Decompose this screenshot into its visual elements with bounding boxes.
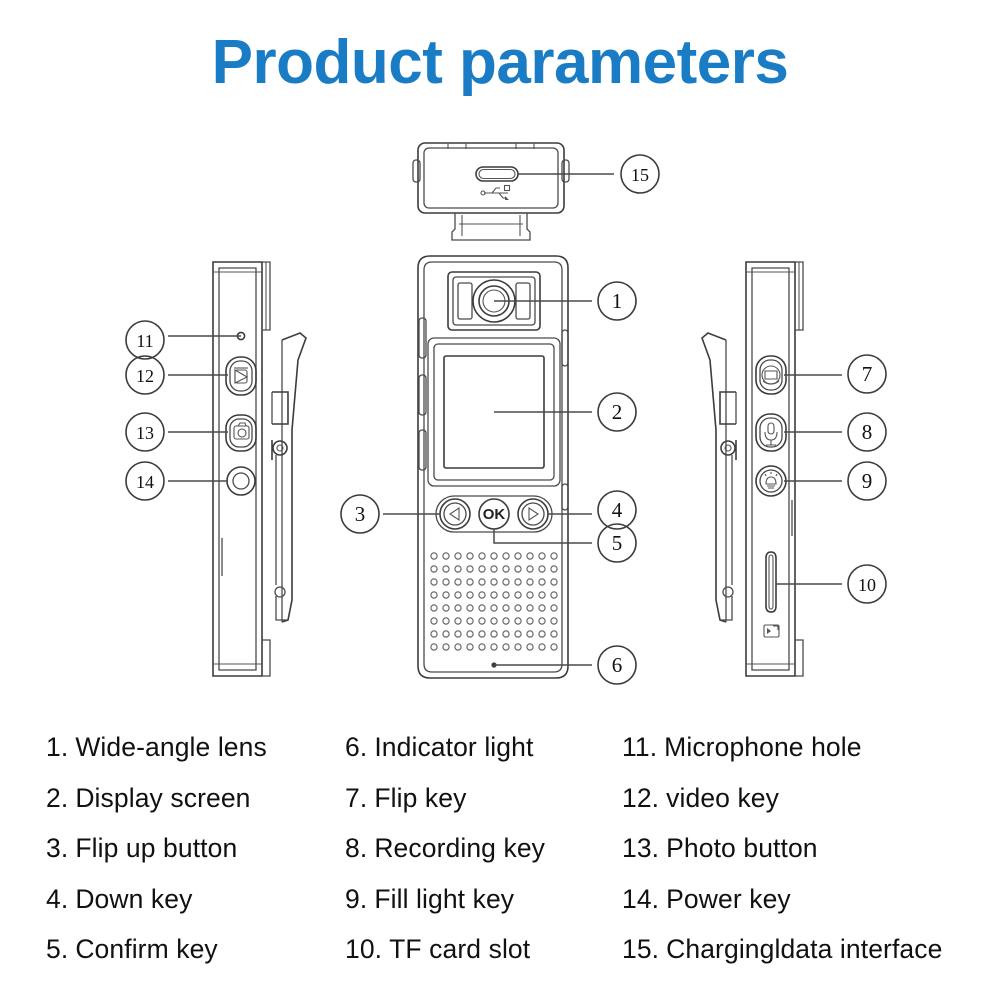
legend-column-2: 6.Indicator light 7.Flip key 8.Recording… (345, 722, 615, 975)
legend-item-15-number: 15. (622, 924, 659, 975)
legend-item-7: 7.Flip key (345, 773, 615, 824)
legend-item-15-label: Chargingldata interface (659, 924, 942, 975)
usb-symbol (481, 186, 510, 201)
photo-button[interactable] (226, 415, 256, 451)
belt-clip (702, 333, 736, 622)
legend-item-1-label: Wide-angle lens (68, 722, 267, 773)
callout-8-label: 8 (862, 420, 873, 444)
belt-clip (272, 333, 306, 622)
callout-12-label: 12 (136, 366, 154, 386)
product-diagram: .ln { fill:none; stroke:#3c3c3c; stroke-… (0, 0, 1000, 720)
legend-item-2-label: Display screen (68, 773, 250, 824)
ir-led-left (458, 283, 472, 319)
legend-item-10-label: TF card slot (382, 924, 530, 975)
legend-item-4-label: Down key (68, 874, 192, 925)
legend-item-4-number: 4. (46, 874, 68, 925)
legend-item-2: 2.Display screen (46, 773, 346, 824)
legend-item-5: 5.Confirm key (46, 924, 346, 975)
recording-key[interactable] (756, 414, 786, 451)
legend: 1.Wide-angle lens 2.Display screen 3.Fli… (0, 722, 1000, 1000)
callout-6-label: 6 (612, 653, 623, 677)
legend-item-3-label: Flip up button (68, 823, 237, 874)
flip-key[interactable] (756, 356, 786, 394)
callout-13-label: 13 (136, 423, 154, 443)
legend-item-12: 12.video key (622, 773, 992, 824)
leader-5 (494, 529, 592, 543)
right-side-view: 7 8 9 10 (702, 262, 886, 676)
legend-item-7-number: 7. (345, 773, 367, 824)
video-key[interactable] (226, 357, 256, 395)
legend-item-8-number: 8. (345, 823, 367, 874)
button-row: OK (436, 496, 552, 532)
legend-item-14: 14.Power key (622, 874, 992, 925)
front-view: OK (341, 256, 636, 684)
legend-item-13-label: Photo button (659, 823, 818, 874)
power-key[interactable] (227, 467, 255, 495)
legend-item-1-number: 1. (46, 722, 68, 773)
callout-7-label: 7 (862, 362, 873, 386)
callout-14-label: 14 (136, 472, 154, 492)
speaker-grille (431, 553, 557, 650)
legend-item-10: 10.TF card slot (345, 924, 615, 975)
legend-item-10-number: 10. (345, 924, 382, 975)
legend-item-11-number: 11. (622, 722, 657, 773)
legend-column-1: 1.Wide-angle lens 2.Display screen 3.Fli… (46, 722, 346, 975)
legend-item-9-number: 9. (345, 874, 367, 925)
product-parameters-page: Product parameters .ln { fill:none; stro… (0, 0, 1000, 1000)
legend-item-15: 15.Chargingldata interface (622, 924, 992, 975)
legend-item-6: 6.Indicator light (345, 722, 615, 773)
legend-item-3-number: 3. (46, 823, 68, 874)
legend-item-5-label: Confirm key (68, 924, 217, 975)
flip-up-button[interactable] (440, 499, 470, 529)
legend-item-12-number: 12. (622, 773, 659, 824)
legend-item-14-number: 14. (622, 874, 659, 925)
down-key[interactable] (518, 499, 548, 529)
legend-item-2-number: 2. (46, 773, 68, 824)
tf-card-slot[interactable] (766, 552, 776, 612)
callout-10-label: 10 (858, 575, 876, 595)
legend-item-9: 9.Fill light key (345, 874, 615, 925)
callout-5-label: 5 (612, 531, 623, 555)
legend-item-8-label: Recording key (367, 823, 545, 874)
ok-button[interactable]: OK (479, 499, 509, 529)
legend-item-6-label: Indicator light (367, 722, 533, 773)
callout-2-label: 2 (612, 400, 623, 424)
fill-light-key[interactable] (756, 466, 786, 496)
tf-card-symbol (764, 625, 779, 637)
legend-item-3: 3.Flip up button (46, 823, 346, 874)
legend-item-6-number: 6. (345, 722, 367, 773)
legend-item-1: 1.Wide-angle lens (46, 722, 346, 773)
legend-item-13-number: 13. (622, 823, 659, 874)
legend-item-14-label: Power key (659, 874, 791, 925)
legend-item-4: 4.Down key (46, 874, 346, 925)
callout-11-label: 11 (136, 331, 153, 351)
legend-item-11: 11.Microphone hole (622, 722, 992, 773)
callout-4-label: 4 (612, 498, 623, 522)
legend-item-5-number: 5. (46, 924, 68, 975)
callout-9-label: 9 (862, 469, 873, 493)
left-side-view: 11 12 13 14 (126, 262, 306, 676)
callout-15-label: 15 (631, 165, 649, 185)
legend-item-12-label: video key (659, 773, 779, 824)
legend-item-8: 8.Recording key (345, 823, 615, 874)
callout-1-label: 1 (612, 289, 623, 313)
legend-item-7-label: Flip key (367, 773, 466, 824)
callout-3-label: 3 (355, 502, 366, 526)
legend-column-3: 11.Microphone hole 12.video key 13.Photo… (622, 722, 992, 975)
legend-item-9-label: Fill light key (367, 874, 514, 925)
top-view: 15 (413, 143, 659, 240)
legend-item-13: 13.Photo button (622, 823, 992, 874)
legend-item-11-label: Microphone hole (657, 722, 861, 773)
ok-button-label: OK (483, 506, 506, 523)
